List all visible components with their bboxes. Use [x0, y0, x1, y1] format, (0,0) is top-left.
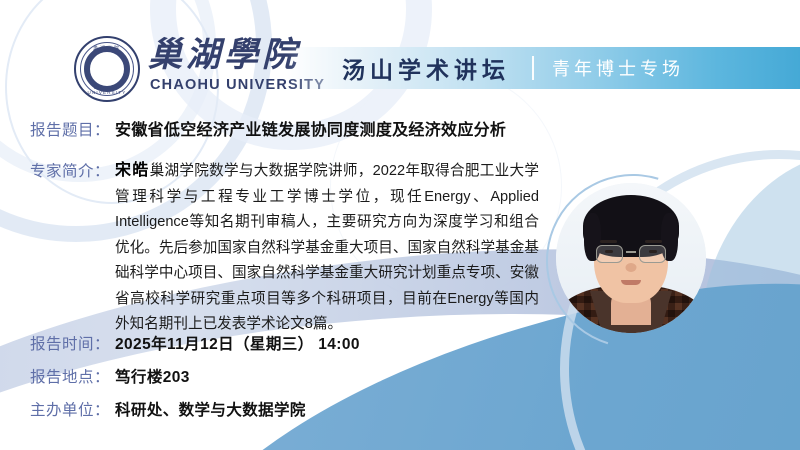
portrait-mouth [621, 280, 641, 285]
portrait-glasses-left [596, 245, 623, 263]
info-value-time: 2025年11月12日（星期三） 14:00 [115, 332, 360, 354]
portrait-eye-left [605, 250, 613, 253]
info-row-time: 报告时间： 2025年11月12日（星期三） 14:00 [30, 332, 500, 354]
info-label-organizer: 主办单位： [30, 398, 110, 420]
speaker-portrait [556, 183, 706, 333]
speaker-bio-body: 宋皓巢湖学院数学与大数据学院讲师，2022年取得合肥工业大学管理科学与工程专业工… [115, 158, 539, 338]
report-title-row: 报告题目： 安徽省低空经济产业链发展协同度测度及经济效应分析 [30, 116, 506, 140]
info-value-organizer: 科研处、数学与大数据学院 [115, 398, 306, 420]
info-row-location: 报告地点： 笃行楼203 [30, 365, 500, 387]
speaker-bio-label: 专家简介： [30, 158, 110, 181]
portrait-brow-left [600, 240, 617, 243]
info-row-organizer: 主办单位： 科研处、数学与大数据学院 [30, 398, 500, 420]
speaker-bio-text: 巢湖学院数学与大数据学院讲师，2022年取得合肥工业大学管理科学与工程专业工学博… [115, 163, 539, 332]
portrait-glasses-bridge [626, 251, 636, 253]
info-label-location: 报告地点： [30, 365, 110, 387]
info-label-time: 报告时间： [30, 332, 110, 354]
speaker-name: 宋皓 [115, 162, 150, 179]
poster-content: 报告题目： 安徽省低空经济产业链发展协同度测度及经济效应分析 专家简介： 宋皓巢… [0, 0, 800, 450]
portrait-brow-right [645, 240, 662, 243]
portrait-nose [626, 263, 637, 272]
lecture-poster: 巢湖学院 巢 CHAOHU UNIVERSITY 巢湖學院 CHAOHU UNI… [0, 0, 800, 450]
report-title-value: 安徽省低空经济产业链发展协同度测度及经济效应分析 [115, 116, 506, 140]
portrait-eye-right [649, 250, 657, 253]
speaker-bio-row: 专家简介： 宋皓巢湖学院数学与大数据学院讲师，2022年取得合肥工业大学管理科学… [30, 158, 550, 338]
event-info-block: 报告时间： 2025年11月12日（星期三） 14:00 报告地点： 笃行楼20… [30, 332, 500, 431]
info-value-location: 笃行楼203 [115, 365, 190, 387]
report-title-label: 报告题目： [30, 118, 110, 140]
portrait-glasses-right [639, 245, 666, 263]
portrait-image [556, 183, 706, 333]
